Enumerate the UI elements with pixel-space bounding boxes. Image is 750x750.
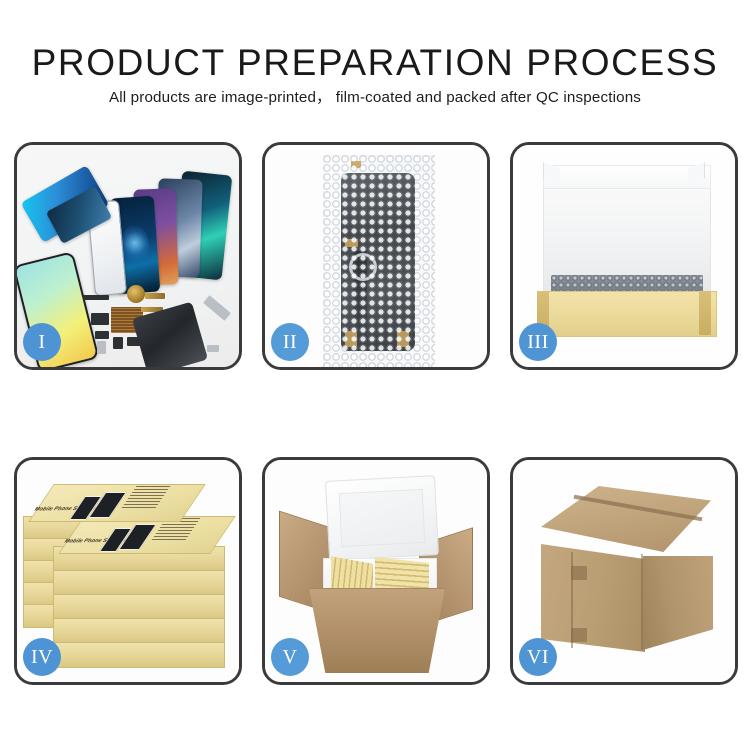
process-step-3: III (510, 142, 738, 370)
screen-swirl-icon (120, 224, 151, 266)
process-step-grid: I II (0, 130, 750, 690)
step-1-badge: I (23, 323, 61, 361)
box-tray-right-corner-icon (699, 291, 711, 335)
step-6-badge: VI (519, 638, 557, 676)
speaker-coil-part-icon (127, 285, 145, 303)
step-2-image: II (265, 145, 487, 367)
foam-lid-inner-icon (339, 489, 426, 547)
header: PRODUCT PREPARATION PROCESS All products… (0, 0, 750, 130)
product-preparation-infographic: PRODUCT PREPARATION PROCESS All products… (0, 0, 750, 750)
box-tray-icon (537, 291, 717, 337)
process-step-6: VI (510, 457, 738, 685)
clip-part-icon (95, 331, 109, 339)
carton-body-icon (309, 588, 445, 673)
button-part-icon (113, 337, 123, 349)
box-side-r4-icon (53, 618, 225, 644)
box-side-r2-icon (53, 570, 225, 596)
step-3-badge: III (519, 323, 557, 361)
step-2-badge: II (271, 323, 309, 361)
flex-strip-part-icon (83, 295, 109, 300)
process-step-5: V (262, 457, 490, 685)
carton-tape-upper-icon (571, 566, 587, 580)
foam-lid-icon (325, 475, 439, 561)
step-3-image: III (513, 145, 735, 367)
page-subtitle: All products are image-printed， film-coa… (0, 90, 750, 105)
step-5-image: V (265, 460, 487, 682)
carton-tape-lower-icon (571, 628, 587, 642)
carton-corner-line-icon (641, 554, 643, 650)
carton-front-fold-line-icon (571, 552, 573, 648)
gold-ribbon-part-icon (145, 293, 165, 299)
step-4-badge: IV (23, 638, 61, 676)
box-lid-edge-icon (543, 165, 711, 189)
bracket-part-icon (91, 313, 109, 325)
screw-part-icon (207, 345, 219, 352)
bubble-wrap-overlay-icon (323, 155, 435, 367)
process-step-2: II (262, 142, 490, 370)
step-6-image: VI (513, 460, 735, 682)
page-title: PRODUCT PREPARATION PROCESS (0, 44, 750, 81)
box-side-r5-icon (53, 642, 225, 668)
process-step-1: I (14, 142, 242, 370)
carton-front-face-icon (541, 544, 645, 652)
box-side-r3-icon (53, 594, 225, 620)
step-1-image: I (17, 145, 239, 367)
step-4-image: Mobile Phone Spare Parts Mobile Phone Sp… (17, 460, 239, 682)
step-5-badge: V (271, 638, 309, 676)
process-step-4: Mobile Phone Spare Parts Mobile Phone Sp… (14, 457, 242, 685)
sim-tray-part-icon (97, 341, 106, 354)
